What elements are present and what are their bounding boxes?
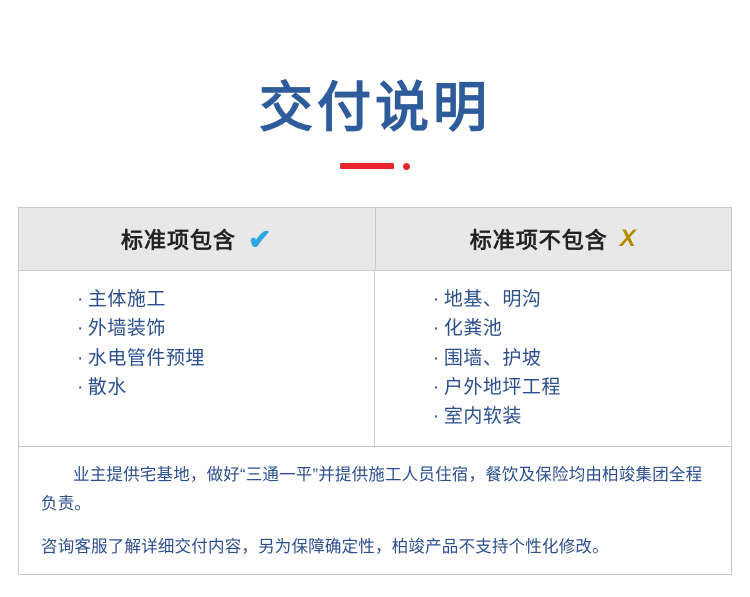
bullet-icon: ·	[77, 377, 84, 398]
table-header-included: 标准项包含 ✔	[19, 208, 376, 270]
list-item: ·地基、明沟	[433, 285, 731, 314]
list-item-label: 围墙、护坡	[444, 348, 542, 369]
x-icon: X	[620, 227, 637, 251]
list-item: ·室内软装	[433, 402, 731, 431]
title-divider	[0, 163, 750, 170]
list-item-label: 散水	[88, 377, 127, 398]
list-item: ·外墙装饰	[77, 314, 374, 343]
table-header-excluded-label: 标准项不包含	[470, 223, 608, 255]
table-body-row: ·主体施工 ·外墙装饰 ·水电管件预埋 ·散水 ·地基、明沟 ·化粪池 ·围墙、…	[19, 270, 731, 446]
excluded-items-list: ·地基、明沟 ·化粪池 ·围墙、护坡 ·户外地坪工程 ·室内软装	[433, 285, 731, 432]
list-item-label: 主体施工	[88, 289, 166, 310]
list-item-label: 户外地坪工程	[444, 377, 561, 398]
table-header-included-label: 标准项包含	[121, 223, 236, 255]
list-item: ·水电管件预埋	[77, 344, 374, 373]
page-title: 交付说明	[0, 0, 750, 137]
list-item: ·主体施工	[77, 285, 374, 314]
list-item-label: 水电管件预埋	[88, 348, 205, 369]
list-item: ·围墙、护坡	[433, 344, 731, 373]
delivery-instructions-page: 交付说明 标准项包含 ✔ 标准项不包含 X ·主体施工 ·外墙装饰 ·水电管件预…	[0, 0, 750, 597]
bullet-icon: ·	[77, 348, 84, 369]
list-item-label: 地基、明沟	[444, 289, 542, 310]
list-item: ·户外地坪工程	[433, 373, 731, 402]
bullet-icon: ·	[433, 318, 440, 339]
comparison-table: 标准项包含 ✔ 标准项不包含 X ·主体施工 ·外墙装饰 ·水电管件预埋 ·散水…	[18, 207, 732, 575]
bullet-icon: ·	[433, 406, 440, 427]
divider-dot	[403, 163, 410, 170]
list-item: ·化粪池	[433, 314, 731, 343]
bullet-icon: ·	[433, 377, 440, 398]
excluded-items-cell: ·地基、明沟 ·化粪池 ·围墙、护坡 ·户外地坪工程 ·室内软装	[375, 271, 731, 446]
bullet-icon: ·	[433, 289, 440, 310]
table-footnotes: 业主提供宅基地，做好“三通一平”并提供施工人员住宿，餐饮及保险均由柏竣集团全程负…	[19, 446, 731, 574]
included-items-cell: ·主体施工 ·外墙装饰 ·水电管件预埋 ·散水	[19, 271, 375, 446]
bullet-icon: ·	[433, 348, 440, 369]
check-icon: ✔	[248, 226, 272, 254]
list-item-label: 室内软装	[444, 406, 522, 427]
included-items-list: ·主体施工 ·外墙装饰 ·水电管件预埋 ·散水	[77, 285, 374, 403]
list-item-label: 化粪池	[444, 318, 503, 339]
bullet-icon: ·	[77, 318, 84, 339]
footnote-owner-responsibilities: 业主提供宅基地，做好“三通一平”并提供施工人员住宿，餐饮及保险均由柏竣集团全程负…	[41, 461, 709, 519]
divider-bar	[340, 163, 394, 169]
footnote-customization-policy: 咨询客服了解详细交付内容，另为保障确定性，柏竣产品不支持个性化修改。	[41, 533, 709, 562]
list-item-label: 外墙装饰	[88, 318, 166, 339]
bullet-icon: ·	[77, 289, 84, 310]
table-header-excluded: 标准项不包含 X	[376, 208, 732, 270]
list-item: ·散水	[77, 373, 374, 402]
table-header-row: 标准项包含 ✔ 标准项不包含 X	[19, 208, 731, 270]
